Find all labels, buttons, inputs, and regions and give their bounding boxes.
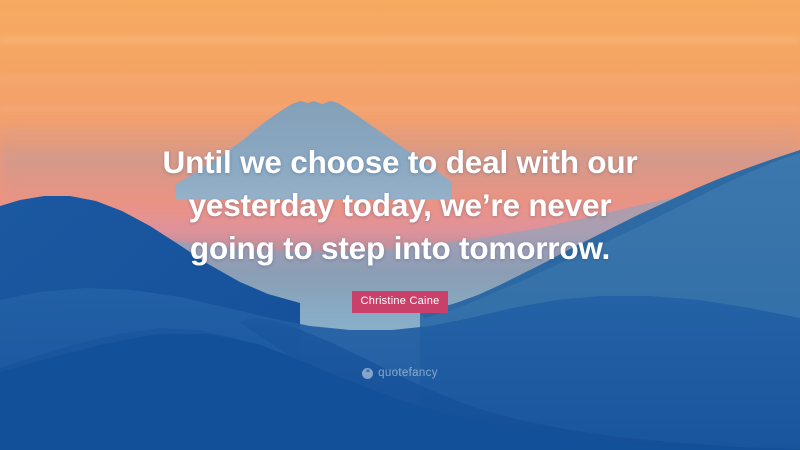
quote-line-1: Until we choose to deal with our bbox=[163, 144, 638, 180]
watermark-brand: quotefancy bbox=[378, 367, 438, 379]
quote-content: Until we choose to deal with our yesterd… bbox=[0, 0, 800, 450]
quote-text: Until we choose to deal with our yesterd… bbox=[130, 141, 670, 270]
watermark[interactable]: ❝ quotefancy bbox=[0, 367, 800, 379]
quote-mark-icon: ❝ bbox=[362, 368, 373, 379]
quote-line-3: going to step into tomorrow. bbox=[190, 230, 610, 266]
quote-mark-glyph: ❝ bbox=[366, 369, 369, 376]
author-badge[interactable]: Christine Caine bbox=[352, 291, 449, 313]
quote-wallpaper: Until we choose to deal with our yesterd… bbox=[0, 0, 800, 450]
quote-line-2: yesterday today, we’re never bbox=[189, 187, 612, 223]
